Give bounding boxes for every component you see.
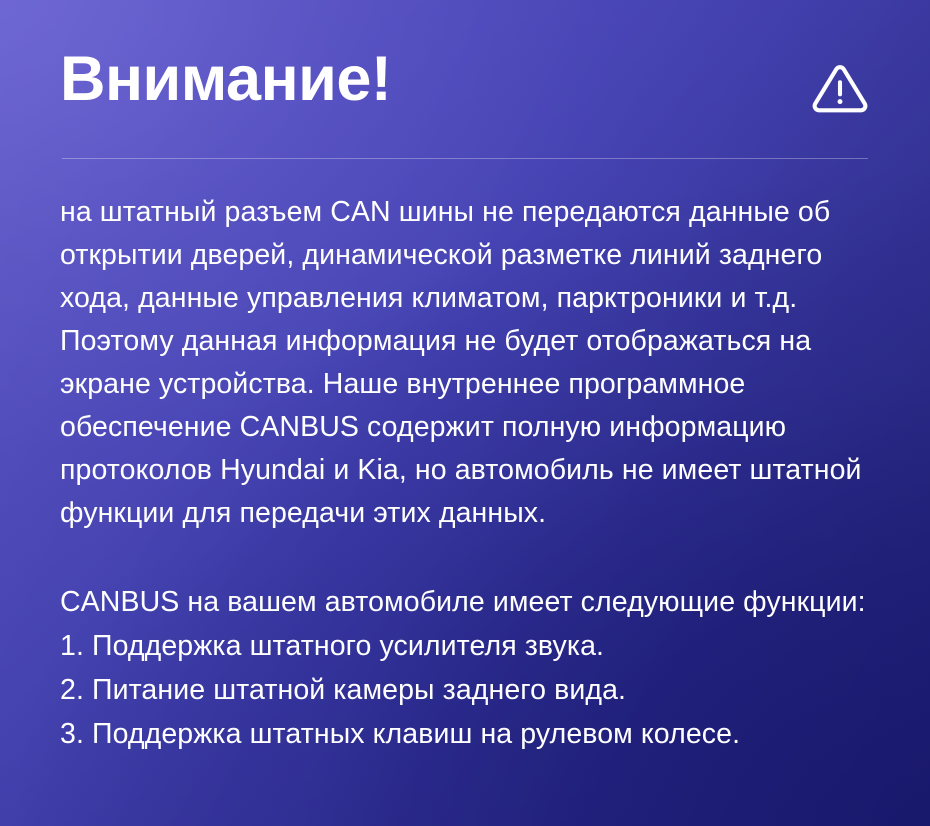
warning-paragraph: на штатный разъем CAN шины не передаются… xyxy=(60,159,870,535)
list-item: 1. Поддержка штатного усилителя звука. xyxy=(60,624,870,668)
features-intro: CANBUS на вашем автомобиле имеет следующ… xyxy=(60,580,870,624)
warning-triangle-icon xyxy=(812,65,868,121)
features-list: 1. Поддержка штатного усилителя звука. 2… xyxy=(60,624,870,756)
list-item: 3. Поддержка штатных клавиш на рулевом к… xyxy=(60,712,870,756)
features-section: CANBUS на вашем автомобиле имеет следующ… xyxy=(60,535,870,756)
page-title: Внимание! xyxy=(60,48,391,111)
banner-content: Внимание! на штатный разъем CAN шины не … xyxy=(0,0,930,756)
list-item: 2. Питание штатной камеры заднего вида. xyxy=(60,668,870,712)
banner-header: Внимание! xyxy=(60,0,870,138)
warning-banner: Внимание! на штатный разъем CAN шины не … xyxy=(0,0,930,826)
